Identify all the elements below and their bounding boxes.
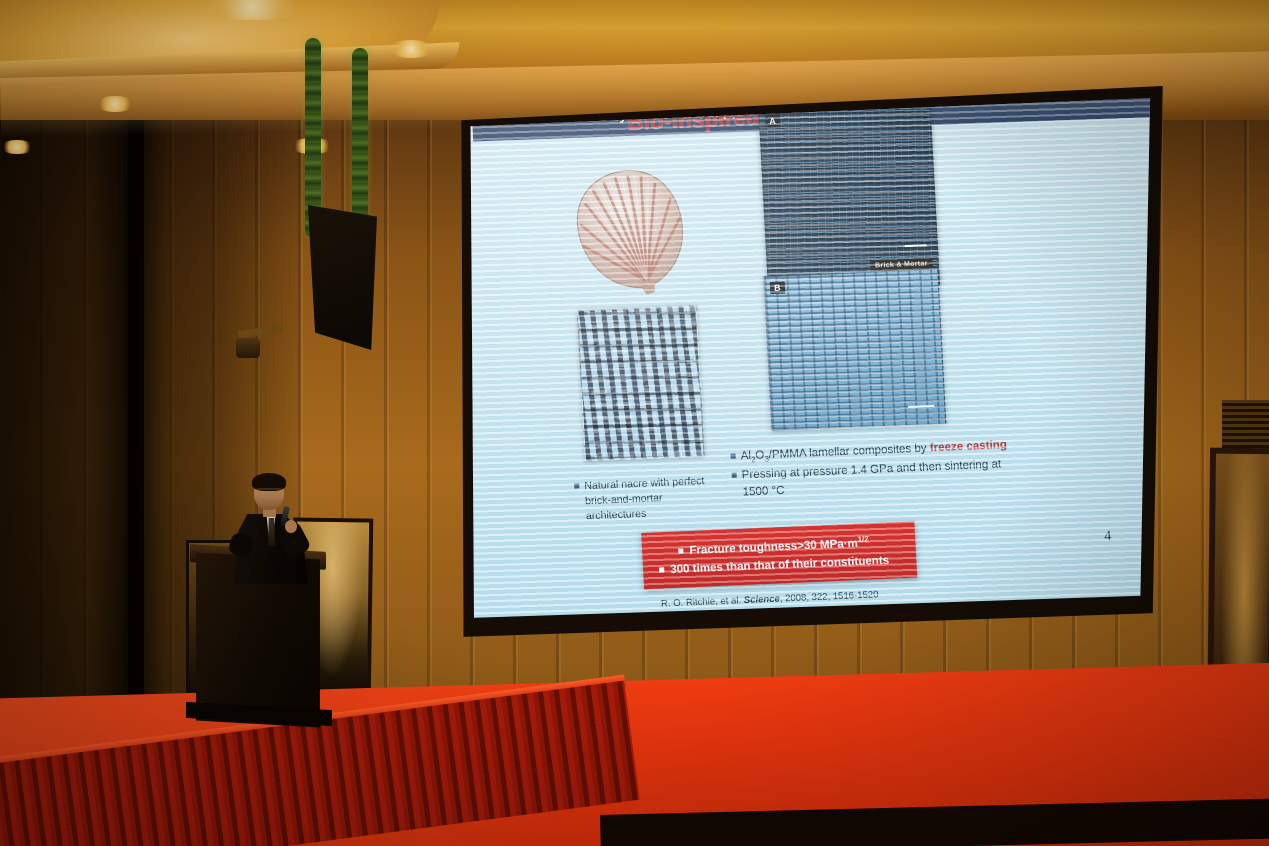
citation-authors: R. O. Ritchie, et al.	[661, 595, 742, 609]
panel-b-letter: B	[770, 281, 785, 294]
bullet-group-left: Natural nacre with perfect brick-and-mor…	[574, 473, 727, 524]
wall-vent	[1222, 400, 1269, 452]
panel-a-letter: A	[765, 115, 780, 128]
slide-content-plane: Wuhan University of Technology Bio-inspi…	[465, 98, 1157, 622]
formula-al2o3: Al2O3/PMMA lamellar composites by	[740, 442, 930, 462]
freeze-casting-highlight: freeze casting	[930, 439, 1008, 454]
scallop-shell-image	[565, 164, 697, 300]
bullet-square-icon	[659, 567, 664, 572]
presenter	[232, 476, 314, 582]
citation-details: , 2008, 322, 1516-1520	[780, 589, 879, 604]
scale-bar	[908, 405, 934, 408]
ceiling-downlight	[95, 96, 135, 112]
bullet-text: brick-and-mortar architectures	[585, 492, 663, 522]
result-constituents: 300 times than that of their constituent…	[659, 555, 889, 577]
conference-hall-photo: Wuhan University of Technology Bio-inspi…	[0, 0, 1269, 846]
brick-mortar-label: Brick & Mortar	[870, 258, 933, 272]
bullet-text: Natural nacre with perfect	[584, 475, 705, 492]
nacre-brick-texture	[578, 306, 703, 460]
presenter-hand	[285, 520, 297, 533]
bullet-text: 1500 °C	[742, 484, 785, 498]
pa-speaker-box	[305, 205, 377, 350]
projection-screen: Wuhan University of Technology Bio-inspi…	[455, 86, 1167, 638]
glasses-icon	[257, 488, 281, 494]
bullet-group-right: Al2O3/PMMA lamellar composites by freeze…	[730, 435, 1064, 501]
surveillance-camera	[236, 338, 260, 358]
presenter-tie	[268, 518, 275, 546]
key-results-box: Fracture toughness>30 MPa·m1/2 300 times…	[641, 521, 917, 589]
ceiling-downlight	[0, 140, 34, 154]
nacre-sem-image	[577, 305, 705, 461]
presentation-slide: Wuhan University of Technology Bio-inspi…	[465, 98, 1157, 622]
slide-page-number: 4	[1104, 529, 1112, 545]
brick-mortar-sem-panel: B Brick & Mortar	[763, 269, 946, 431]
bullet-square-icon	[574, 483, 579, 488]
ceiling-downlight	[388, 40, 434, 58]
bullet-item-continuation: brick-and-mortar architectures	[575, 488, 727, 524]
bullet-square-icon	[731, 454, 736, 459]
citation-journal: Science	[743, 594, 780, 607]
bullet-square-icon	[678, 548, 683, 553]
result-toughness: Fracture toughness>30 MPa·m1/2	[678, 534, 869, 557]
bullet-square-icon	[732, 473, 737, 478]
dark-wall-seam	[128, 95, 144, 715]
